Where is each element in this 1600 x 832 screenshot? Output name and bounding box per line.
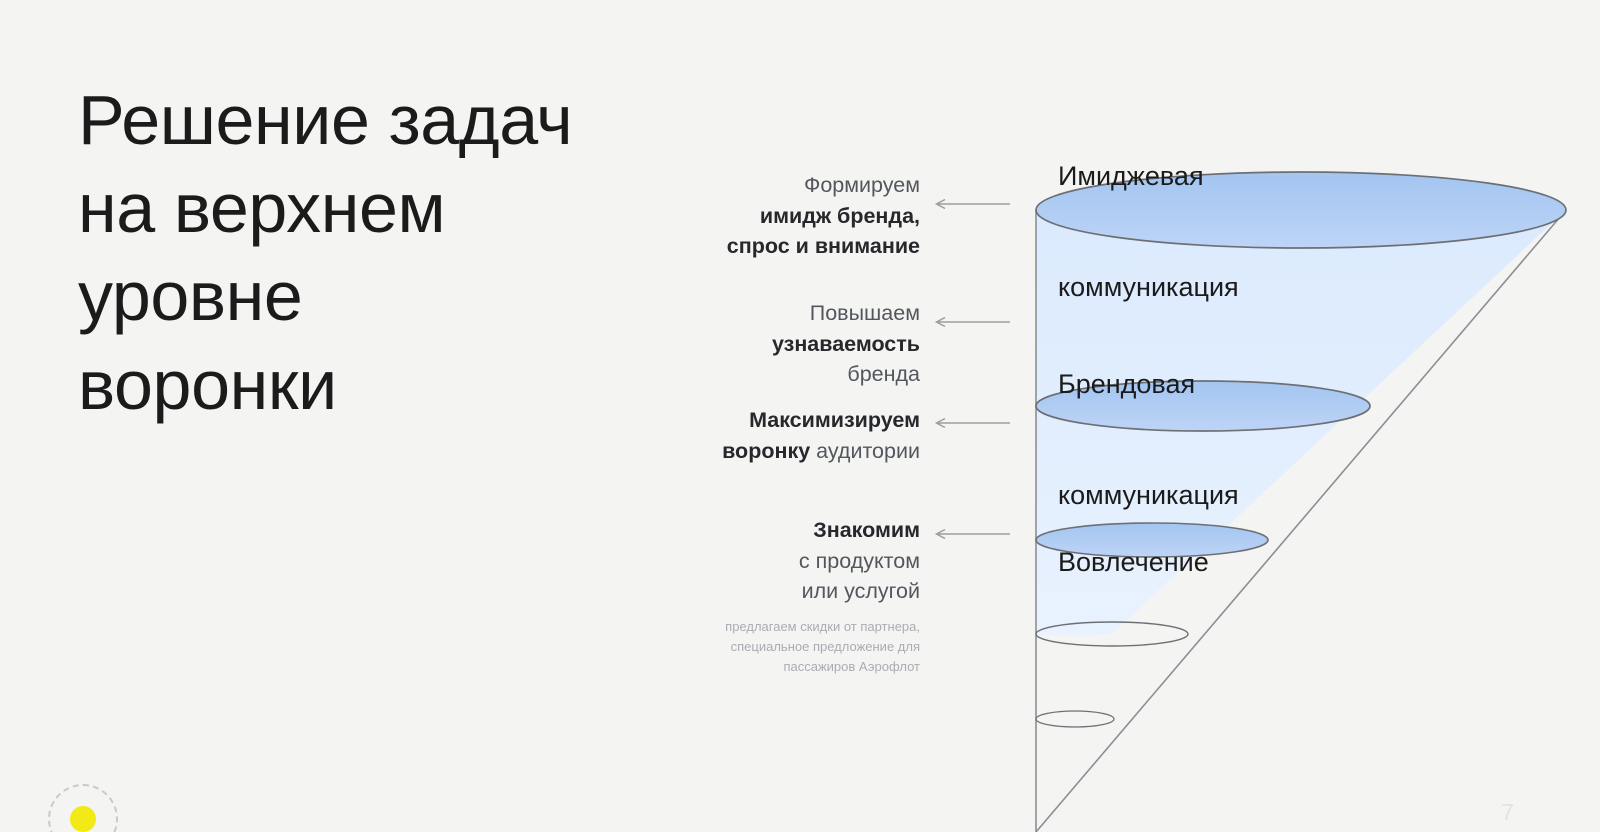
annotation-line: Формируем (620, 170, 920, 201)
funnel-stage-ellipse (1036, 711, 1114, 727)
annotation-line: Повышаем (620, 298, 920, 329)
annotation-line: с продуктом (620, 546, 920, 577)
funnel-label-line: Вовлечение (1058, 544, 1209, 581)
arrow-left-icon (935, 528, 1011, 540)
annotation-image: Формируем имидж бренда, спрос и внимание (620, 170, 920, 262)
annotation-awareness: Повышаем узнаваемость бренда (620, 298, 920, 390)
annotation-line: имидж бренда, (620, 201, 920, 232)
arrow-left-icon (935, 417, 1011, 429)
annotation-line: или услугой (620, 576, 920, 607)
footnote-line: специальное предложение для (620, 637, 920, 657)
funnel-label-line: Брендовая (1058, 366, 1239, 403)
decorative-yellow-dot (70, 806, 96, 832)
annotation-line: Знакомим (620, 515, 920, 546)
annotation-line: узнаваемость (620, 329, 920, 360)
footnote-line: пассажиров Аэрофлот (620, 657, 920, 677)
annotation-line-strong: воронку (722, 439, 810, 463)
annotation-line: спрос и внимание (620, 231, 920, 262)
funnel-label-line: Имиджевая (1058, 158, 1239, 195)
arrow-left-icon (935, 198, 1011, 210)
annotation-line: воронку аудитории (620, 436, 920, 467)
annotation-footnote: предлагаем скидки от партнера, специальн… (620, 617, 920, 677)
annotation-line: Максимизируем (620, 405, 920, 436)
annotation-line-tail: аудитории (810, 439, 920, 463)
arrow-left-icon (935, 316, 1011, 328)
funnel-label-engagement: Вовлечение (1058, 470, 1209, 655)
footnote-line: предлагаем скидки от партнера, (620, 617, 920, 637)
slide-canvas: Решение задач на верхнем уровне воронки (0, 0, 1600, 832)
annotation-funnel: Максимизируем воронку аудитории (620, 405, 920, 466)
annotation-product: Знакомим с продуктом или услугой (620, 515, 920, 607)
annotation-line: бренда (620, 359, 920, 390)
page-number: 7 (1501, 799, 1514, 826)
